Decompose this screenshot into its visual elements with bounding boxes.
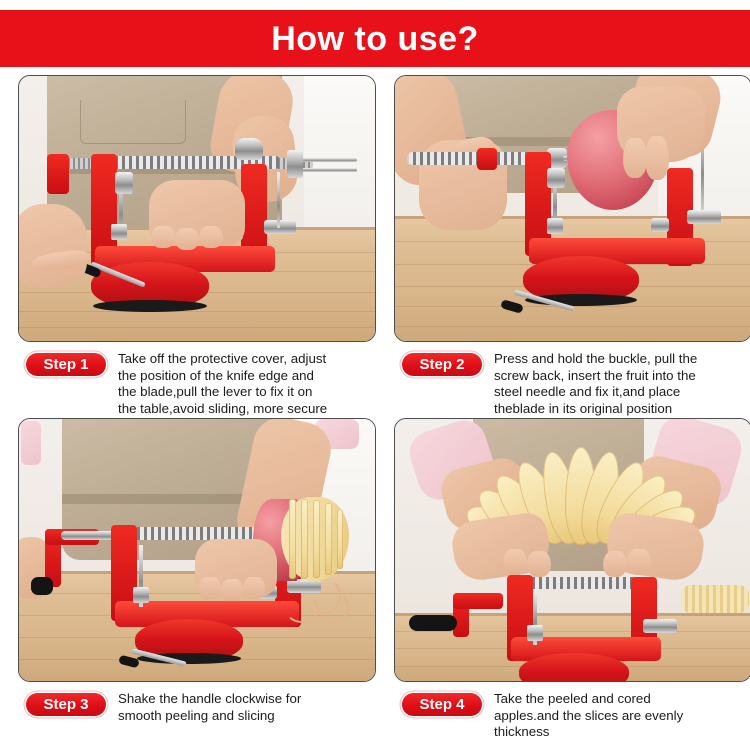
step-text-4: Take the peeled and cored apples.and the… [494,691,683,741]
step-badge-3: Step 3 [26,693,106,716]
knife-edge-bracket [115,172,133,194]
blade-holder [527,625,543,641]
scene-step1 [19,76,375,341]
crank-knob [31,577,53,595]
left-finger-1 [503,549,527,575]
right-finger-1 [151,226,175,248]
photo-step4-fanned-apple-slices [394,418,750,682]
step-badge-label-3: Step 3 [43,697,88,712]
needle-collar [287,150,303,178]
blade-holder [111,224,127,240]
scene-step3 [19,419,375,681]
apple-slice-ridge-2 [301,499,308,579]
step-badge-label-2: Step 2 [419,357,464,372]
caption-step-4: Step 4 Take the peeled and cored apples.… [394,691,750,741]
adjust-screw [651,218,669,232]
peeler-blade-bracket [264,220,296,234]
header-banner: How to use? [0,10,750,67]
sleeve-left [21,421,41,465]
right-finger-1 [603,551,627,577]
left-hand [18,204,87,288]
apple-peel-curl-2 [317,591,349,623]
right-finger-2 [175,228,199,250]
page-title: How to use? [271,22,479,56]
caption-step-2: Step 2 Press and hold the buckle, pull t… [394,351,750,417]
step-text-3: Shake the handle clockwise for smooth pe… [118,691,301,724]
chain-rail [521,577,645,589]
suction-base [519,653,629,682]
step-badge-label-4: Step 4 [419,697,464,712]
infographic-page: How to use? [0,0,750,750]
photo-step3-turn-crank-peel-and-slice [18,418,376,682]
suction-base-gasket [93,300,207,312]
apple-spiral-on-table [681,585,749,613]
caption-step-1: Step 1 Take off the protective cover, ad… [18,351,376,417]
blade-rod [277,172,280,228]
peeler-blade-bracket [643,619,677,633]
wing-nut [235,138,263,160]
frame-left-post [47,154,69,194]
step-card-4: Step 4 Take the peeled and cored apples.… [394,418,750,741]
apple-slice-ridge-4 [325,503,332,575]
right-finger-2 [627,549,651,575]
steps-grid: Step 1 Take off the protective cover, ad… [0,75,750,750]
blade-holder [547,218,563,234]
apron-pocket [80,100,185,144]
crank-arm-horizontal [453,593,503,609]
frame-left-collar [477,148,497,170]
right-finger-1 [623,138,647,178]
crank-knob [409,615,457,631]
left-finger-2 [527,551,551,577]
chain-rail [409,152,543,165]
step-card-3: Step 3 Shake the handle clockwise for sm… [18,418,376,724]
caption-step-3: Step 3 Shake the handle clockwise for sm… [18,691,376,724]
step-text-2: Press and hold the buckle, pull the scre… [494,351,697,417]
step-card-2: Step 2 Press and hold the buckle, pull t… [394,75,750,417]
blade-holder [133,587,149,603]
step-badge-1: Step 1 [26,353,106,376]
step-badge-label-1: Step 1 [43,357,88,372]
peeler-blade-bracket [687,210,721,224]
step-badge-2: Step 2 [402,353,482,376]
apple-peel-curl-3 [285,595,319,623]
knife-bracket [547,168,565,188]
step-text-1: Take off the protective cover, adjust th… [118,351,327,417]
right-finger-2 [645,136,669,180]
right-finger-3 [243,577,265,599]
photo-step2-insert-apple-on-needle [394,75,750,342]
apple-slice-ridge-5 [337,509,343,569]
scene-step2 [395,76,750,341]
steel-needle-prongs-2 [301,168,357,172]
background-wall-right [304,76,375,251]
step-card-1: Step 1 Take off the protective cover, ad… [18,75,376,417]
crank-shaft [61,531,117,540]
apple-slice-ridge-3 [313,500,320,578]
steel-needle-prongs [301,158,357,162]
photo-step1-mount-peeler-on-table [18,75,376,342]
apple-slice-ridge-1 [289,499,296,579]
step-badge-4: Step 4 [402,693,482,716]
scene-step4 [395,419,750,681]
right-finger-1 [199,577,221,599]
right-finger-2 [221,579,243,601]
right-finger-3 [199,226,223,248]
